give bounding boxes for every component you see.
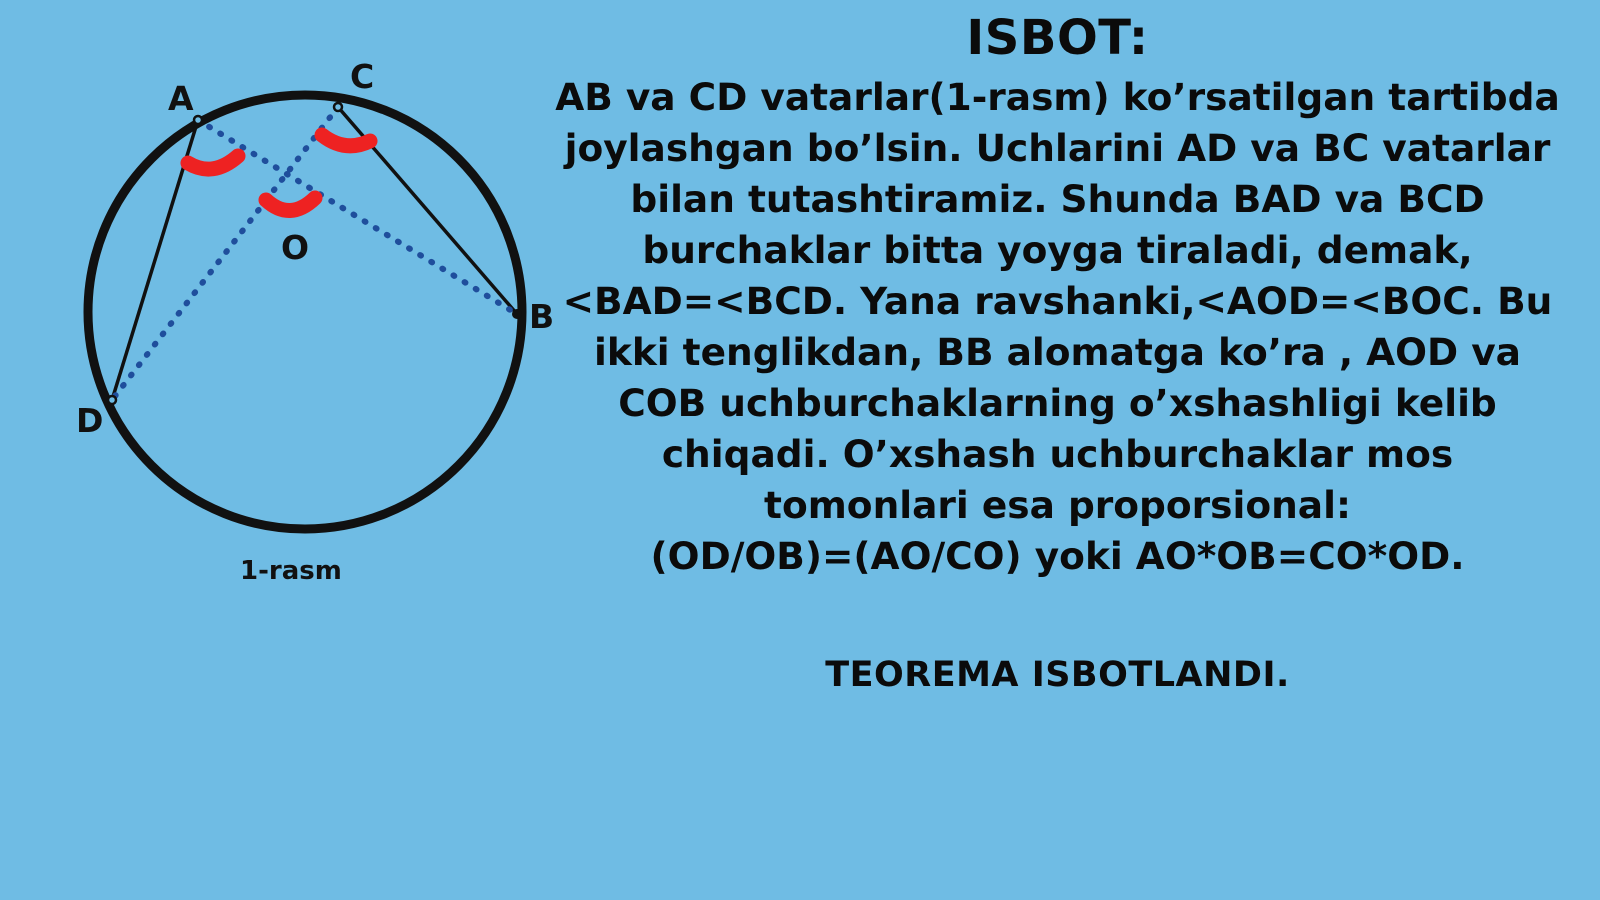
angle-arc-C	[322, 135, 370, 146]
proof-line: <BAD=<BCD. Yana ravshanki,<AOD=<BOC. Bu	[517, 276, 1598, 327]
figure-caption: 1-rasm	[240, 556, 342, 586]
slide-root: A C B D O 1-rasm ISBOT: AB va CD vatarla…	[0, 0, 1600, 900]
vertex-marker-A	[194, 116, 202, 124]
proof-text-panel: ISBOT: AB va CD vatarlar(1-rasm) ko’rsat…	[515, 0, 1600, 900]
proof-line: (OD/OB)=(AO/CO) yoki AO*OB=CO*OD.	[517, 531, 1598, 582]
proof-title: ISBOT:	[515, 14, 1600, 62]
geometry-figure: A C B D O 1-rasm	[0, 0, 600, 640]
proof-body: AB va CD vatarlar(1-rasm) ko’rsatilgan t…	[515, 72, 1600, 582]
point-label-d: D	[76, 404, 103, 437]
proof-line: joylashgan bo’lsin. Uchlarini AD va BC v…	[517, 123, 1598, 174]
proof-conclusion: TEOREMA ISBOTLANDI.	[515, 656, 1600, 695]
proof-line: COB uchburchaklarning o’xshashligi kelib	[517, 378, 1598, 429]
angle-arc-O	[266, 198, 315, 211]
proof-line: bilan tutashtiramiz. Shunda BAD va BCD	[517, 174, 1598, 225]
proof-line: chiqadi. O’xshash uchburchaklar mos	[517, 429, 1598, 480]
point-label-a: A	[168, 82, 194, 115]
vertex-marker-C	[334, 103, 342, 111]
proof-line: tomonlari esa proporsional:	[517, 480, 1598, 531]
proof-line: ikki tenglikdan, BB alomatga ko’ra , AOD…	[517, 327, 1598, 378]
circle-diagram-svg	[0, 0, 600, 640]
vertex-marker-D	[108, 396, 116, 404]
angle-arc-A	[188, 156, 238, 169]
point-label-o: O	[281, 231, 309, 264]
point-label-c: C	[350, 60, 374, 93]
proof-line: AB va CD vatarlar(1-rasm) ko’rsatilgan t…	[517, 72, 1598, 123]
circle-outline	[88, 95, 522, 529]
proof-line: burchaklar bitta yoyga tiraladi, demak,	[517, 225, 1598, 276]
